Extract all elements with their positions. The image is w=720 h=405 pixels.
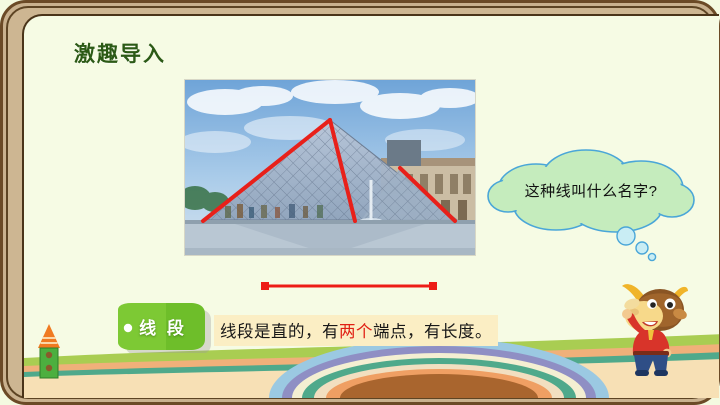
term-tag-label: 线 段: [108, 304, 204, 348]
statement-prefix: 线段是直的，有: [220, 323, 339, 341]
pencil-decoration: [36, 322, 62, 380]
statement-line: 线段是直的，有两个端点，有长度。: [214, 315, 498, 346]
thought-bubble-shape: [486, 144, 712, 264]
term-tag: 线 段: [108, 304, 204, 348]
thought-bubble: 这种线叫什么名字?: [486, 144, 712, 264]
statement-suffix: 端点，有长度。: [373, 323, 492, 341]
cow-mascot: [608, 278, 690, 378]
slide-canvas: 激趣导入: [22, 14, 719, 398]
thought-bubble-text: 这种线叫什么名字?: [486, 180, 696, 201]
red-line-segment: [260, 278, 438, 294]
statement-highlight: 两个: [339, 323, 373, 341]
page-title: 激趣导入: [74, 38, 166, 68]
slide-root: 激趣导入: [0, 0, 720, 405]
louvre-pyramid-photo: [184, 79, 476, 256]
